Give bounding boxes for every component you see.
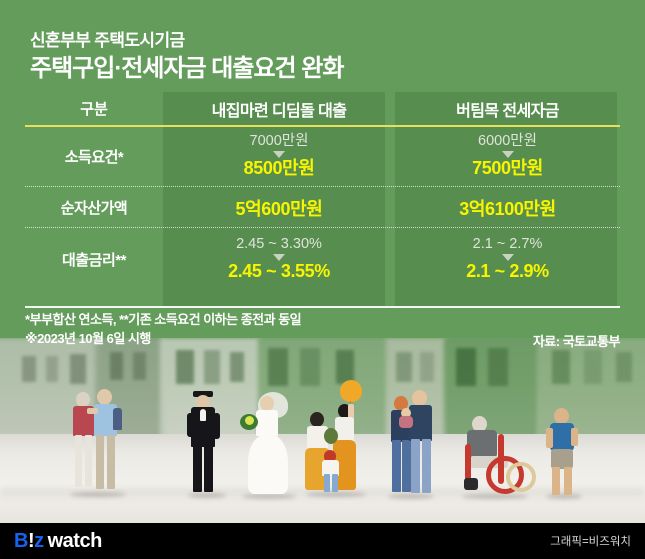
figurine-groom (188, 393, 228, 503)
footnote-line-1: *부부합산 연소득, **기존 소득요건 이하는 종전과 동일 (25, 311, 620, 330)
row-income-col1: 7000만원 8500만원 (163, 134, 395, 178)
figurine-elderly-couple (70, 392, 130, 502)
value: 5억600만원 (236, 199, 323, 219)
old-value: 2.45 ~ 3.30% (236, 237, 322, 253)
new-value: 8500만원 (244, 159, 315, 178)
table-header-row: 구분 내집마련 디딤돌 대출 버팀목 전세자금 (25, 92, 620, 125)
header-cell-label: 구분 (25, 98, 163, 119)
figurine-couple-with-baby (388, 388, 436, 506)
table-row-net-assets: 순자산가액 5억600만원 3억6100만원 (25, 187, 620, 228)
figurine-family-balloon (306, 382, 368, 504)
infographic-card: 신혼부부 주택도시기금 주택구입·전세자금 대출요건 완화 구분 내집마련 디딤… (0, 0, 645, 559)
background-photo (0, 338, 645, 524)
old-value: 6000만원 (478, 134, 537, 150)
row-label-income: 소득요건* (25, 146, 163, 167)
footnotes: *부부합산 연소득, **기존 소득요건 이하는 종전과 동일 ※2023년 1… (25, 311, 620, 349)
comparison-table: 구분 내집마련 디딤돌 대출 버팀목 전세자금 소득요건* 7000만원 850… (25, 92, 620, 290)
row-label-net-assets: 순자산가액 (25, 197, 163, 218)
down-arrow-icon (502, 151, 514, 158)
logo-letter-z: z (34, 530, 44, 552)
footnote-line-2: ※2023년 10월 6일 시행 (25, 330, 620, 349)
page-title: 주택구입·전세자금 대출요건 완화 (30, 48, 343, 83)
footer-bar: B!zwatch 그래픽=비즈워치 (0, 523, 645, 559)
bizwatch-logo[interactable]: B!zwatch (14, 530, 102, 553)
row-income-col2: 6000만원 7500만원 (395, 134, 620, 178)
logo-word-watch: watch (48, 530, 102, 552)
old-value: 2.1 ~ 2.7% (473, 237, 543, 253)
value: 3억6100만원 (459, 199, 556, 219)
header-cell-col2: 버팀목 전세자금 (395, 97, 620, 121)
table-row-income: 소득요건* 7000만원 8500만원 6000만원 7500만원 (25, 125, 620, 187)
logo-letter-b: B (14, 530, 28, 552)
new-value: 7500만원 (472, 159, 543, 178)
new-value: 2.1 ~ 2.9% (466, 262, 549, 281)
row-interest-col1: 2.45 ~ 3.30% 2.45 ~ 3.55% (163, 237, 395, 281)
row-label-interest-rate: 대출금리** (25, 249, 163, 270)
header-cell-col1: 내집마련 디딤돌 대출 (163, 97, 395, 121)
graphic-credit: 그래픽=비즈워치 (550, 533, 631, 549)
new-value: 2.45 ~ 3.55% (228, 262, 330, 281)
figurine-boy (546, 408, 584, 504)
down-arrow-icon (502, 254, 514, 261)
row-interest-col2: 2.1 ~ 2.7% 2.1 ~ 2.9% (395, 237, 620, 281)
table-bottom-rule (25, 306, 620, 308)
table-row-interest-rate: 대출금리** 2.45 ~ 3.30% 2.45 ~ 3.55% 2.1 ~ 2… (25, 228, 620, 290)
old-value: 7000만원 (250, 134, 309, 150)
row-net-assets-col1: 5억600만원 (163, 195, 395, 221)
figurine-wheelchair-user (462, 416, 532, 502)
down-arrow-icon (273, 254, 285, 261)
row-net-assets-col2: 3억6100만원 (395, 195, 620, 221)
source-label: 자료: 국토교통부 (533, 331, 620, 350)
figurine-bride (240, 394, 298, 504)
down-arrow-icon (273, 151, 285, 158)
